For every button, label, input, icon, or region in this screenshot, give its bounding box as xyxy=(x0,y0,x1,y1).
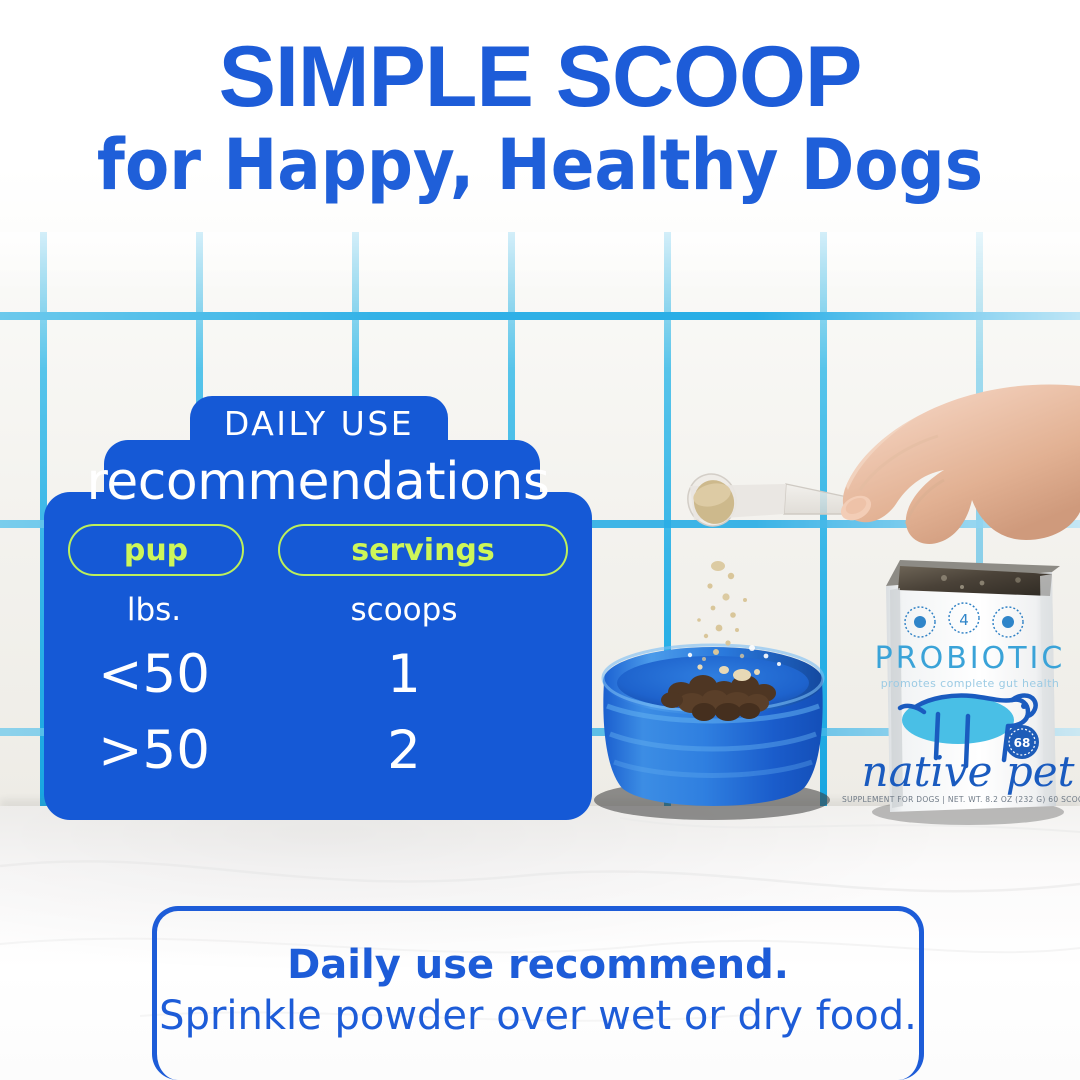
promo-image: 4 PROBIOTIC promotes complete gut health… xyxy=(0,0,1080,1080)
usage-callout: Daily use recommend. Sprinkle powder ove… xyxy=(152,906,924,1080)
table-row: >50 2 xyxy=(68,718,568,784)
row-scoops: 1 xyxy=(240,642,568,708)
callout-line-2: Sprinkle powder over wet or dry food. xyxy=(159,992,917,1041)
table-row: <50 1 xyxy=(68,642,568,708)
card-eyebrow: DAILY USE xyxy=(190,404,448,443)
row-scoops: 2 xyxy=(240,718,568,784)
row-weight: <50 xyxy=(68,642,240,708)
chip-servings[interactable]: servings xyxy=(278,524,568,576)
card-column-headers: pup servings xyxy=(68,524,568,576)
grout-line-horizontal xyxy=(0,312,1080,320)
chip-pup[interactable]: pup xyxy=(68,524,244,576)
unit-scoops: scoops xyxy=(240,592,568,628)
unit-lbs: lbs. xyxy=(68,592,240,628)
grout-line-vertical xyxy=(820,222,827,810)
row-weight: >50 xyxy=(68,718,240,784)
page-title: SIMPLE SCOOP for Happy, Healthy Dogs xyxy=(0,34,1080,202)
title-subtitle: for Happy, Healthy Dogs xyxy=(43,128,1037,202)
card-unit-row: lbs. scoops xyxy=(68,592,568,628)
daily-use-recommendation-card: DAILY USE recommendations pup servings l… xyxy=(44,396,592,820)
grout-line-vertical xyxy=(664,222,671,810)
grout-line-vertical xyxy=(976,222,983,810)
title-main: SIMPLE SCOOP xyxy=(0,34,1080,122)
callout-line-1: Daily use recommend. xyxy=(287,941,789,990)
tile-wall-highlight xyxy=(0,222,1080,292)
card-data-rows: <50 1 >50 2 xyxy=(68,642,568,795)
card-title: recommendations xyxy=(44,452,592,512)
